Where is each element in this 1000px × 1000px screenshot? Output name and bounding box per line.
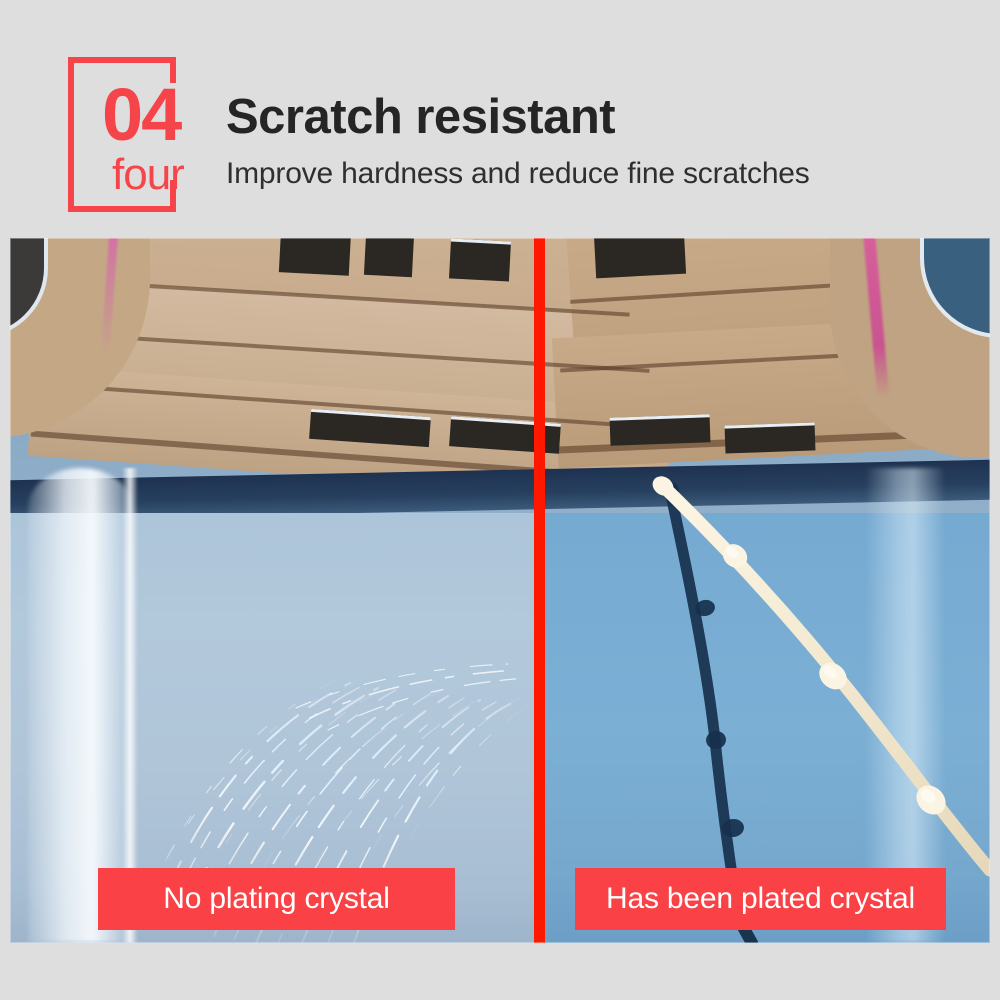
glass-panel-reflection [920, 238, 990, 338]
header: 04 four Scratch resistant Improve hardne… [0, 0, 1000, 238]
caption-before: No plating crystal [98, 868, 455, 930]
bracket-bottom-bar [68, 206, 176, 212]
bracket-left-bar [68, 57, 74, 212]
window-reflection [610, 414, 711, 445]
window-reflection [364, 238, 414, 277]
comparison-divider [534, 238, 545, 943]
window-reflection [725, 422, 816, 453]
page-subtitle: Improve hardness and reduce fine scratch… [226, 157, 810, 190]
window-reflection [449, 238, 511, 281]
step-badge: 04 four [68, 57, 176, 212]
building-reflection [10, 238, 990, 513]
step-word: four [112, 153, 184, 197]
window-reflection [594, 238, 686, 278]
glass-panel-reflection [10, 238, 48, 338]
bracket-top-bar [68, 57, 176, 63]
window-reflection [279, 238, 351, 276]
step-number: 04 [102, 81, 180, 149]
page-title: Scratch resistant [226, 92, 615, 143]
comparison-photo: No plating crystal Has been plated cryst… [10, 238, 990, 943]
caption-after: Has been plated crystal [575, 868, 946, 930]
